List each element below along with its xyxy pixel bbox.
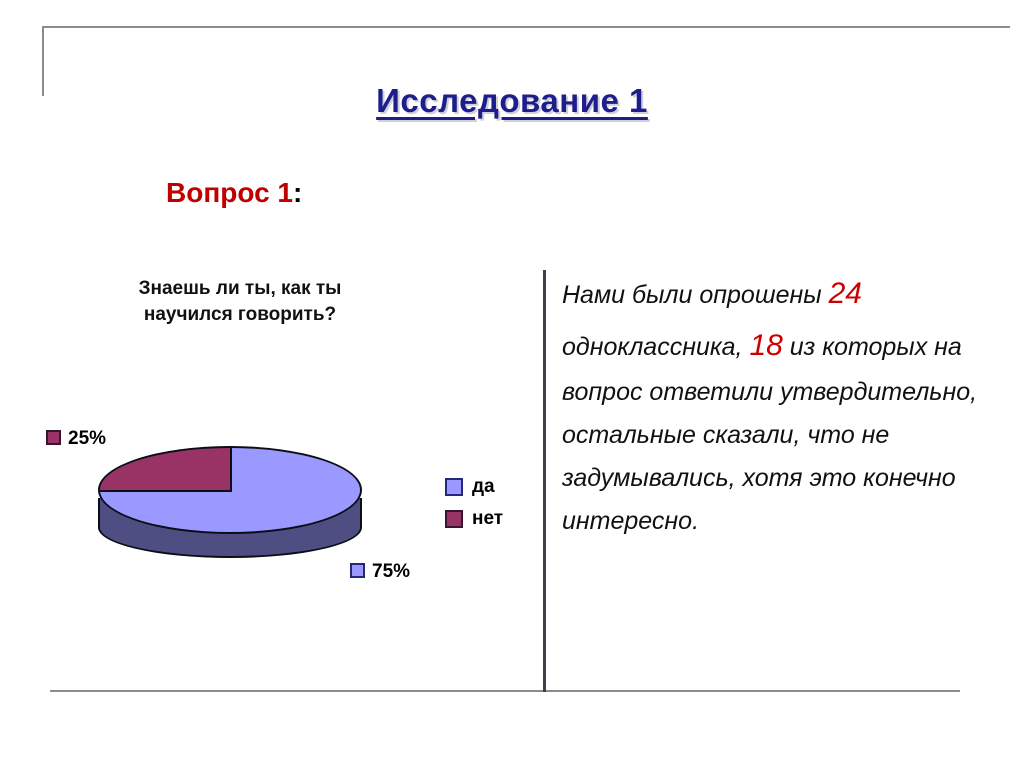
pie-slice-divider-vertical <box>230 448 232 492</box>
chart-title: Знаешь ли ты, как ты научился говорить? <box>70 276 410 327</box>
chart-legend: да нет <box>445 476 503 540</box>
chart-title-line-1: Знаешь ли ты, как ты <box>70 276 410 302</box>
question-heading: Вопрос 1: <box>166 177 302 209</box>
legend-label-no: нет <box>472 508 503 530</box>
legend-swatch-no-icon <box>445 510 463 528</box>
pie-top-face <box>98 446 362 534</box>
swatch-no-icon <box>46 430 61 445</box>
description-number-affirmative: 18 <box>749 329 782 362</box>
description-part-3: из которых на вопрос ответили утвердител… <box>562 333 977 536</box>
description-part-2: одноклассника, <box>562 333 749 361</box>
data-label-yes: 75% <box>350 561 410 583</box>
question-label: Вопрос 1 <box>166 177 293 208</box>
chart-title-line-2: научился говорить? <box>70 302 410 328</box>
slide-canvas: Исследование 1 Вопрос 1: Знаешь ли ты, к… <box>0 0 1024 768</box>
pie-slice-divider-horizontal <box>100 490 232 492</box>
legend-item-yes: да <box>445 476 503 498</box>
pie-graphic <box>98 446 368 566</box>
swatch-yes-icon <box>350 563 365 578</box>
pie-chart-panel: Знаешь ли ты, как ты научился говорить? … <box>40 276 540 606</box>
legend-item-no: нет <box>445 508 503 530</box>
vertical-divider <box>543 270 546 692</box>
question-colon: : <box>293 177 302 208</box>
description-number-surveyed: 24 <box>829 277 862 310</box>
frame-rule-bottom <box>50 690 960 692</box>
data-label-yes-value: 75% <box>372 561 410 582</box>
frame-rule-top <box>42 26 1010 28</box>
page-title: Исследование 1 <box>0 82 1024 120</box>
description-part-1: Нами были опрошены <box>562 281 829 309</box>
legend-swatch-yes-icon <box>445 478 463 496</box>
description-text: Нами были опрошены 24 одноклассника, 18 … <box>562 268 1014 543</box>
legend-label-yes: да <box>472 476 495 498</box>
